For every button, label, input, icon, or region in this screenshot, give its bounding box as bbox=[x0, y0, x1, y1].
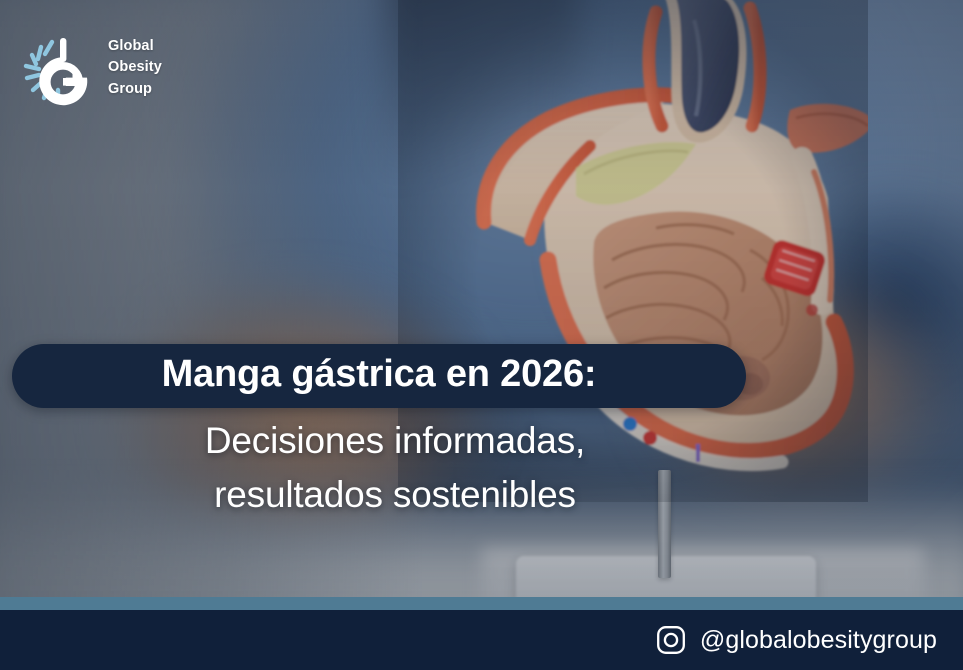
subtitle-line-1: Decisiones informadas, bbox=[0, 414, 790, 468]
subtitle-block: Decisiones informadas, resultados sosten… bbox=[0, 414, 790, 522]
brand-name-line-3: Group bbox=[108, 79, 162, 100]
subtitle-line-2: resultados sostenibles bbox=[0, 468, 790, 522]
sunburst-ig-monogram-icon bbox=[22, 28, 94, 108]
social-media-poster: Global Obesity Group Manga gástrica en 2… bbox=[0, 0, 963, 670]
brand-name: Global Obesity Group bbox=[108, 36, 162, 99]
headline-text: Manga gástrica en 2026: bbox=[162, 353, 597, 399]
brand-name-line-1: Global bbox=[108, 36, 162, 57]
footer-divider bbox=[0, 597, 963, 610]
footer-bar: @globalobesitygroup bbox=[0, 610, 963, 670]
brand-name-line-2: Obesity bbox=[108, 57, 162, 78]
brand-logo[interactable]: Global Obesity Group bbox=[22, 28, 162, 108]
headline-pill: Manga gástrica en 2026: bbox=[12, 344, 746, 408]
instagram-icon[interactable] bbox=[656, 625, 686, 655]
instagram-handle[interactable]: @globalobesitygroup bbox=[700, 626, 937, 655]
